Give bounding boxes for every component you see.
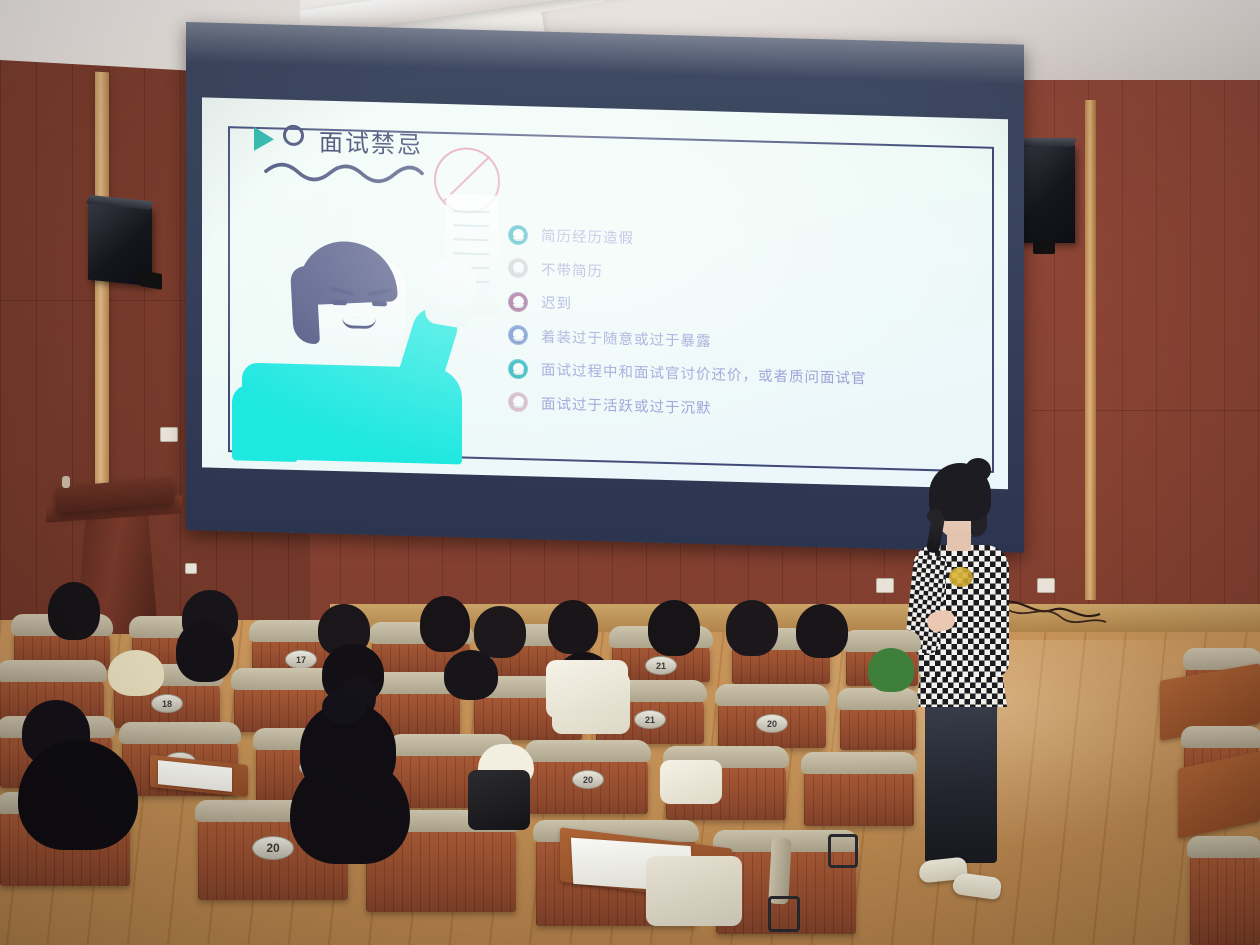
audience-person-green bbox=[868, 648, 914, 692]
right-speaker-mount bbox=[1033, 240, 1055, 254]
seat[interactable] bbox=[1190, 836, 1260, 945]
audience-head bbox=[796, 604, 848, 658]
bullet-icon bbox=[508, 224, 528, 245]
audience-head bbox=[48, 582, 100, 640]
audience-head bbox=[726, 600, 778, 656]
wall-seam bbox=[1030, 410, 1260, 411]
presenter-jeans bbox=[925, 695, 997, 863]
cup-holder bbox=[768, 896, 800, 932]
cup-holder bbox=[828, 834, 858, 868]
audience-head bbox=[548, 600, 598, 654]
illustration-shirt-left bbox=[232, 384, 298, 462]
wall-trim-pillar-left bbox=[95, 72, 109, 553]
seat-number-plate: 20 bbox=[572, 770, 604, 789]
seat[interactable]: 20 bbox=[718, 684, 826, 748]
illustration-man bbox=[232, 194, 512, 462]
bullet-icon bbox=[508, 325, 528, 346]
bullet-text: 迟到 bbox=[541, 292, 572, 314]
list-item: 迟到 bbox=[508, 291, 867, 322]
wavy-underline-icon bbox=[264, 155, 424, 185]
audience-bag bbox=[546, 660, 628, 718]
seat-number-plate: 20 bbox=[252, 836, 294, 860]
podium-microphone bbox=[62, 476, 70, 488]
audience-head bbox=[420, 596, 470, 652]
seat[interactable] bbox=[804, 752, 914, 826]
bullet-text: 不带简历 bbox=[541, 258, 603, 281]
seat-number-plate: 21 bbox=[634, 710, 666, 729]
audience-head bbox=[176, 620, 234, 682]
list-item: 着装过于随意或过于暴露 bbox=[508, 324, 867, 355]
seat-number-plate: 18 bbox=[151, 694, 183, 713]
play-triangle-icon bbox=[254, 126, 274, 151]
audience-head-blonde bbox=[108, 650, 164, 696]
seat[interactable]: 20 bbox=[528, 740, 648, 814]
wall-socket bbox=[1037, 578, 1055, 593]
seat-armrest bbox=[768, 838, 791, 905]
bullet-text: 简历经历造假 bbox=[541, 225, 634, 249]
seat-number-plate: 20 bbox=[756, 714, 788, 733]
bullet-icon bbox=[508, 358, 528, 379]
bullet-icon bbox=[508, 392, 528, 413]
audience-bag bbox=[660, 760, 722, 804]
bullet-text: 着装过于随意或过于暴露 bbox=[541, 325, 712, 351]
projection-screen[interactable]: 汇合发展 HEHE DEVELOPMENT 汇 合 发 展 面试禁忌 bbox=[186, 22, 1024, 553]
audience-head bbox=[648, 600, 700, 656]
wall-socket bbox=[160, 427, 178, 442]
microphone-head bbox=[927, 509, 943, 523]
presenter bbox=[903, 463, 1021, 923]
presentation-slide: 汇合发展 HEHE DEVELOPMENT 汇 合 发 展 面试禁忌 bbox=[202, 97, 1008, 489]
audience-head bbox=[290, 756, 410, 864]
wall-trim-pillar-right bbox=[1085, 100, 1096, 600]
audience-head bbox=[18, 740, 138, 850]
presenter-hair-bun bbox=[965, 458, 991, 482]
wall-socket bbox=[876, 578, 894, 593]
bullet-text: 面试过程中和面试官讨价还价，或者质问面试官 bbox=[541, 359, 867, 389]
bullet-icon bbox=[508, 258, 528, 279]
seat-number-plate: 21 bbox=[645, 656, 677, 675]
audience-head bbox=[474, 606, 526, 658]
slide-bullet-list: 简历经历造假 不带简历 迟到 着装过于随意或过于暴露 面试过程中和面试官讨价还价… bbox=[508, 224, 867, 422]
audience-bag bbox=[646, 856, 742, 926]
audience-backpack bbox=[468, 770, 530, 830]
presenter-shoe-right bbox=[952, 872, 1003, 900]
lecture-hall-scene: 汇合发展 HEHE DEVELOPMENT 汇 合 发 展 面试禁忌 bbox=[0, 0, 1260, 945]
list-item: 不带简历 bbox=[508, 257, 867, 288]
slide-title: 面试禁忌 bbox=[319, 123, 423, 161]
presenter-brooch bbox=[949, 567, 973, 587]
audience-head bbox=[444, 650, 498, 700]
ring-circle-icon bbox=[283, 125, 304, 147]
bullet-icon bbox=[508, 291, 528, 312]
illustration-hair bbox=[296, 239, 398, 305]
wall-socket bbox=[185, 563, 197, 574]
slide-title-row: 面试禁忌 bbox=[254, 121, 423, 161]
illustration-hand bbox=[424, 257, 479, 330]
seat[interactable] bbox=[840, 688, 916, 750]
list-item: 面试过程中和面试官讨价还价，或者质问面试官 bbox=[508, 358, 867, 389]
audience-ponytail bbox=[322, 690, 366, 724]
seat-number-plate: 17 bbox=[285, 650, 317, 669]
